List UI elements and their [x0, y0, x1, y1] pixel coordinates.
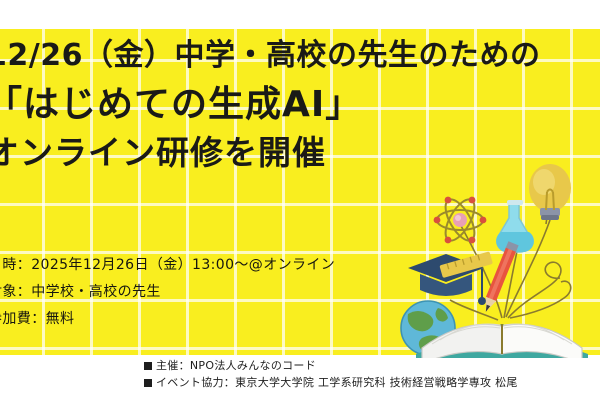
square-bullet-icon	[144, 362, 152, 370]
detail-datetime: 日時：2025年12月26日（金）13:00〜@オンライン	[0, 252, 468, 279]
footer-cooperation-text: イベント協力：東京大学大学院 工学系研究科 技術経営戦略学専攻 松尾	[156, 376, 518, 389]
footer-organizer: 主催：NPO法人みんなのコード	[144, 357, 600, 374]
headline-line-2: 「はじめての生成AI」	[0, 81, 600, 128]
footer-organizer-text: 主催：NPO法人みんなのコード	[156, 359, 316, 372]
detail-fee: 参加費：無料	[0, 306, 468, 333]
headline-line-1: 12/26（金）中学・高校の先生のための	[0, 36, 600, 76]
event-details: 日時：2025年12月26日（金）13:00〜@オンライン 対象：中学校・高校の…	[0, 252, 468, 333]
footer-cooperation: イベント協力：東京大学大学院 工学系研究科 技術経営戦略学専攻 松尾	[144, 374, 600, 391]
footer-credits: 主催：NPO法人みんなのコード イベント協力：東京大学大学院 工学系研究科 技術…	[144, 357, 600, 391]
headline-line-3: オンライン研修を開催	[0, 130, 600, 175]
headline: 12/26（金）中学・高校の先生のための 「はじめての生成AI」 オンライン研修…	[0, 36, 600, 175]
detail-audience: 対象：中学校・高校の先生	[0, 279, 468, 306]
square-bullet-icon	[144, 379, 152, 387]
event-banner: 12/26（金）中学・高校の先生のための 「はじめての生成AI」 オンライン研修…	[0, 0, 600, 400]
